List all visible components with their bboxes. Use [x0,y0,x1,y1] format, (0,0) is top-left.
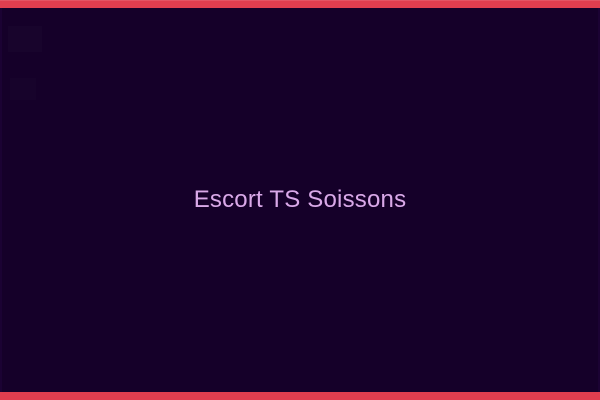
placeholder-caption: Escort TS Soissons [194,186,407,215]
top-accent-bar [0,0,600,8]
placeholder-card: Escort TS Soissons [0,0,600,400]
caption-container: Escort TS Soissons [0,8,600,392]
bottom-accent-bar [0,392,600,400]
